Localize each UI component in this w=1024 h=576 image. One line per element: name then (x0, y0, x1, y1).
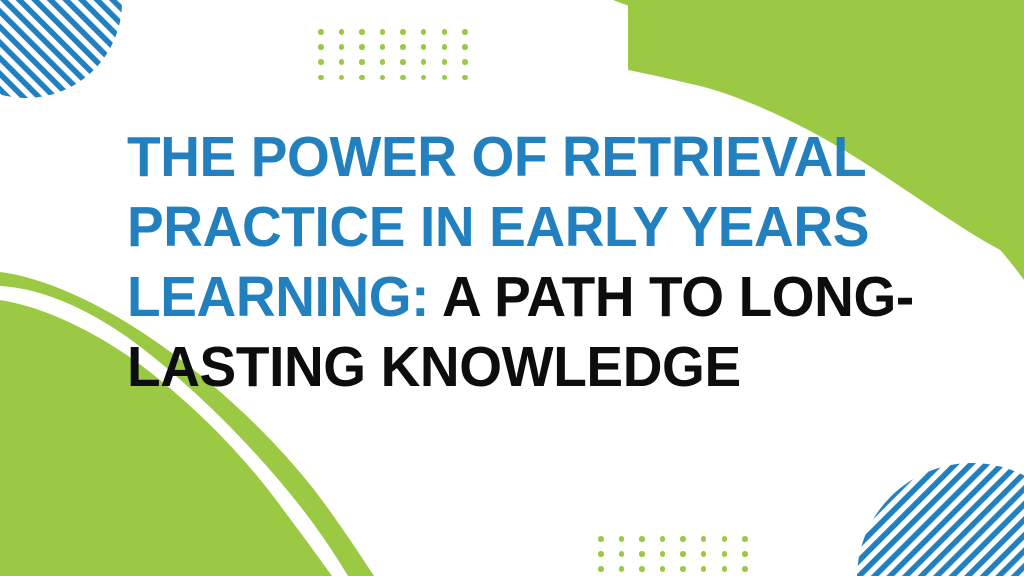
dot-grid-bottom (598, 536, 763, 576)
title-line-1-blue: THE POWER OF RETRIEVAL (127, 125, 866, 189)
dot (680, 566, 686, 572)
dot (639, 566, 645, 572)
dot (359, 44, 365, 50)
dot (742, 551, 748, 557)
dot (380, 75, 386, 81)
title-line-1: THE POWER OF RETRIEVAL (127, 122, 928, 192)
dot (619, 566, 625, 572)
dot (400, 29, 406, 35)
dot (400, 59, 406, 65)
title-line-4: LASTING KNOWLEDGE (127, 332, 928, 402)
dot (680, 536, 686, 542)
title-line-3: LEARNING: A PATH TO LONG- (127, 262, 928, 332)
dot (639, 536, 645, 542)
dot (660, 566, 666, 572)
dot (421, 59, 427, 65)
dot (722, 536, 728, 542)
dot (339, 44, 345, 50)
dot (619, 536, 625, 542)
dot (442, 75, 448, 81)
dot (722, 551, 728, 557)
title-line-2-blue: PRACTICE IN EARLY YEARS (127, 195, 869, 259)
dot (318, 75, 324, 81)
dot (701, 566, 707, 572)
dot (318, 29, 324, 35)
slide-canvas: THE POWER OF RETRIEVAL PRACTICE IN EARLY… (0, 0, 1024, 576)
dot (318, 44, 324, 50)
dot (339, 59, 345, 65)
title-line-4-black: LASTING KNOWLEDGE (127, 335, 741, 399)
dot (742, 566, 748, 572)
dot (442, 29, 448, 35)
dot (598, 551, 604, 557)
dot (598, 536, 604, 542)
page-title: THE POWER OF RETRIEVAL PRACTICE IN EARLY… (127, 122, 957, 402)
dot (701, 551, 707, 557)
dot (660, 551, 666, 557)
dot (701, 536, 707, 542)
dot (442, 44, 448, 50)
dot (462, 44, 468, 50)
dot (639, 551, 645, 557)
dot (462, 59, 468, 65)
dot (359, 29, 365, 35)
dot (598, 566, 604, 572)
dot (619, 551, 625, 557)
dot-grid-top (318, 29, 483, 90)
dot (380, 29, 386, 35)
dot (400, 75, 406, 81)
dot (339, 29, 345, 35)
dot (421, 29, 427, 35)
title-line-3-black: A PATH TO LONG- (429, 265, 914, 329)
dot (660, 536, 666, 542)
dot (339, 75, 345, 81)
dot (742, 536, 748, 542)
title-line-3-blue: LEARNING: (127, 265, 429, 329)
dot (359, 75, 365, 81)
dot (462, 29, 468, 35)
bottom-right-striped-circle-icon (840, 440, 1024, 576)
dot (462, 75, 468, 81)
dot (421, 75, 427, 81)
dot (380, 59, 386, 65)
dot (442, 59, 448, 65)
dot (680, 551, 686, 557)
dot (421, 44, 427, 50)
dot (722, 566, 728, 572)
dot (380, 44, 386, 50)
dot (359, 59, 365, 65)
dot (400, 44, 406, 50)
dot (318, 59, 324, 65)
title-line-2: PRACTICE IN EARLY YEARS (127, 192, 928, 262)
